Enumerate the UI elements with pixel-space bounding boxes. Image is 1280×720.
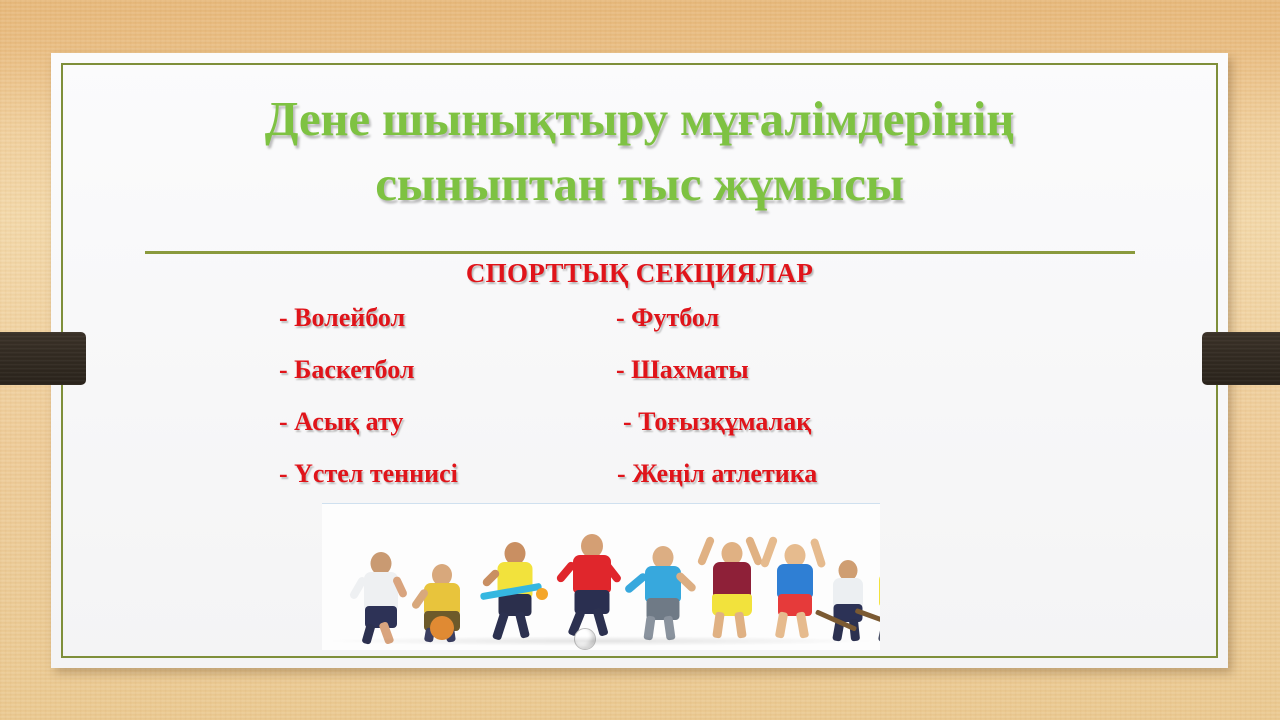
- decorative-bar-left: [0, 332, 86, 385]
- slide-content: Дене шынықтыру мұғалімдерінің сыныптан т…: [51, 53, 1228, 668]
- child-figure: [764, 532, 826, 642]
- child-figure: [632, 540, 694, 642]
- children-sports-photo: [322, 503, 880, 650]
- list-row: - Баскетбол - Шахматы: [51, 355, 1228, 407]
- child-figure: [560, 532, 624, 642]
- list-item-chess: - Шахматы: [616, 355, 749, 385]
- list-item-football: - Футбол: [616, 303, 719, 333]
- list-item-volleyball: - Волейбол: [279, 303, 405, 333]
- slide-card: Дене шынықтыру мұғалімдерінің сыныптан т…: [51, 53, 1228, 668]
- slide-canvas: Дене шынықтыру мұғалімдерінің сыныптан т…: [0, 0, 1280, 720]
- sports-sections-list: - Волейбол - Футбол - Баскетбол - Шахмат…: [51, 303, 1228, 511]
- photo-ground-shadow: [322, 636, 880, 646]
- child-figure: [700, 530, 764, 642]
- list-item-togyzkumalak: - Тоғызқұмалақ: [623, 407, 811, 437]
- list-row: - Волейбол - Футбол: [51, 303, 1228, 355]
- child-figure: [822, 556, 874, 642]
- list-item-asyk-atu: - Асық ату: [279, 407, 403, 437]
- child-figure: [484, 538, 546, 642]
- title-divider: [145, 251, 1135, 254]
- slide-title: Дене шынықтыру мұғалімдерінің сыныптан т…: [93, 87, 1186, 216]
- child-figure: [412, 560, 472, 642]
- child-figure: [352, 546, 410, 642]
- list-item-basketball: - Баскетбол: [279, 355, 414, 385]
- decorative-bar-right: [1202, 332, 1280, 385]
- child-figure: [868, 550, 880, 642]
- slide-subtitle: СПОРТТЫҚ СЕКЦИЯЛАР: [51, 258, 1228, 289]
- list-item-athletics: - Жеңіл атлетика: [617, 459, 817, 489]
- list-item-table-tennis: - Үстел теннисі: [279, 459, 458, 489]
- list-row: - Асық ату - Тоғызқұмалақ: [51, 407, 1228, 459]
